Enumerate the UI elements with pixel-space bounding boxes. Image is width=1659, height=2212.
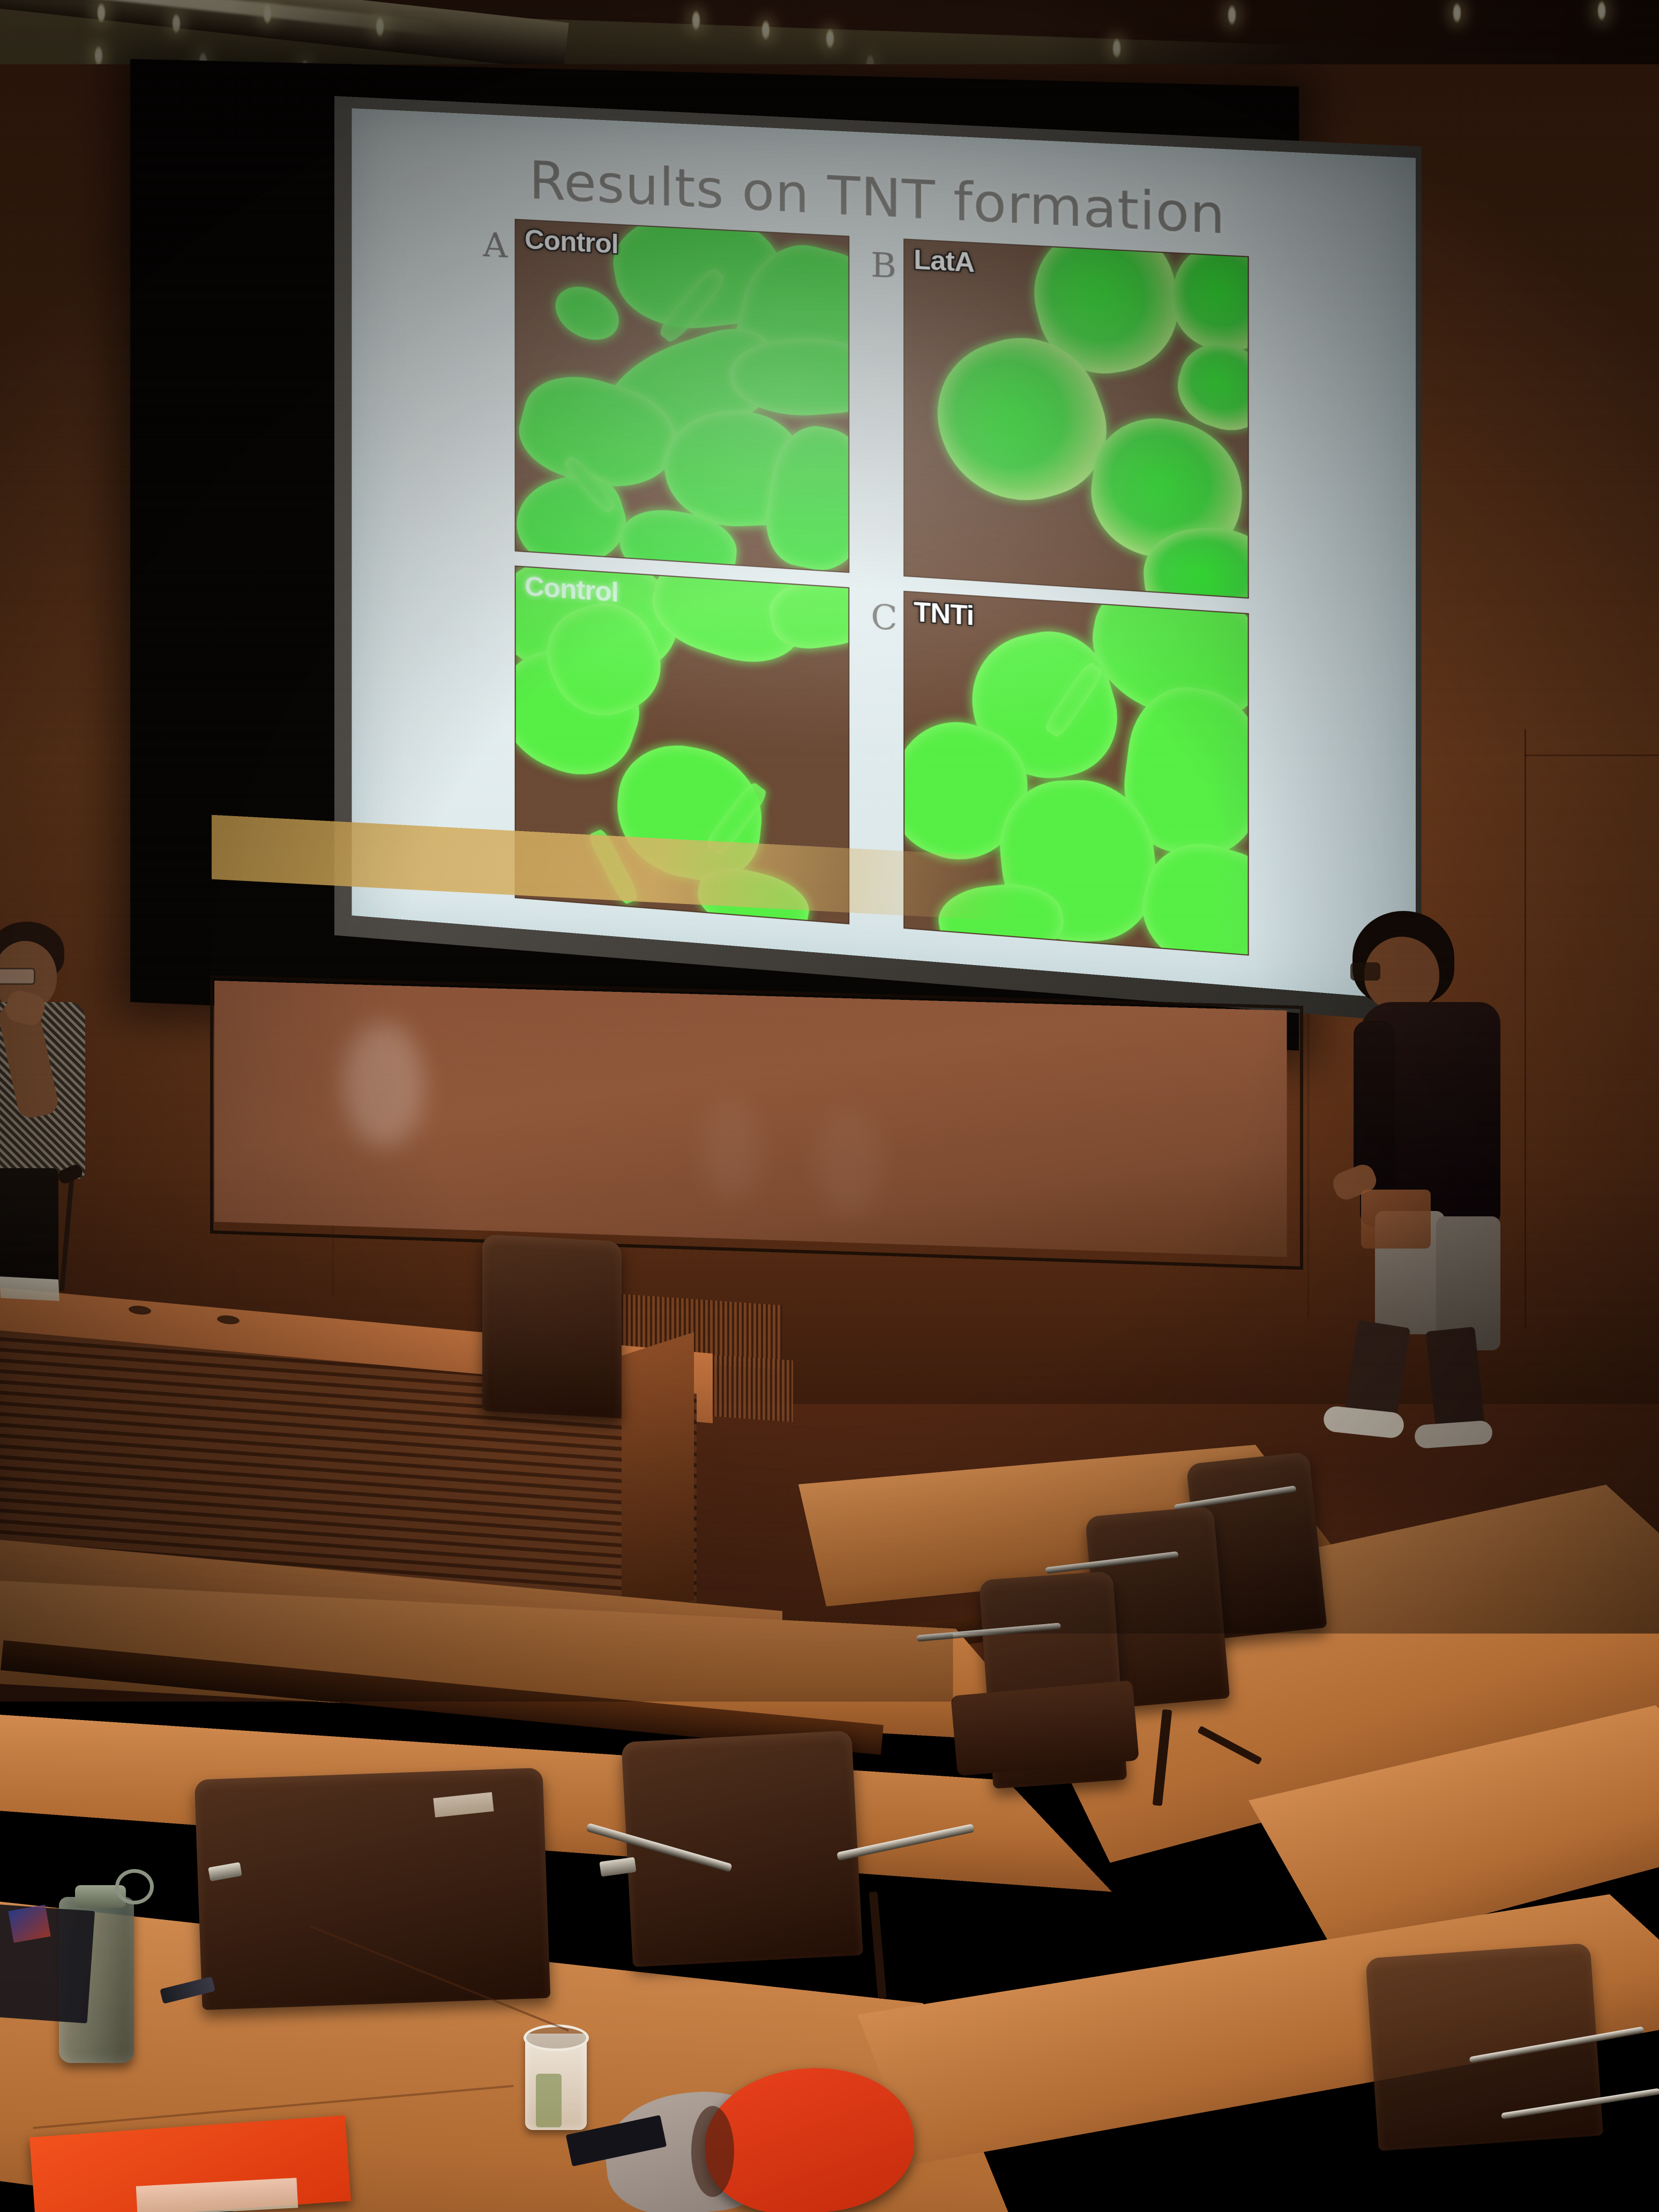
panel-label-control-lower: Control <box>525 571 618 608</box>
chair-seat <box>951 1680 1139 1776</box>
bag-logo <box>8 1904 50 1942</box>
lectern-paper <box>0 1276 59 1301</box>
figure-panel-a: A Control <box>515 219 858 571</box>
audience-glasses-icon <box>0 968 35 985</box>
chair-post <box>869 1892 886 1999</box>
figure-row: A Control <box>482 217 1269 597</box>
below-screen-panel <box>214 981 1287 1257</box>
wall-seam <box>1525 729 1526 1329</box>
panel-label-a: Control <box>525 223 618 260</box>
micrograph-a: Control <box>515 219 850 573</box>
bottle-loop-icon <box>115 1869 154 1904</box>
cup-contents <box>536 2074 562 2127</box>
panel-label-b: LatA <box>914 243 974 278</box>
presenter-held-item <box>1361 1190 1431 1249</box>
presenter-leg <box>1425 1327 1485 1433</box>
cup-rim <box>524 2024 589 2051</box>
chair-back <box>482 1234 622 1418</box>
audience-member-left <box>0 922 96 1318</box>
lectern-side <box>622 1332 694 1624</box>
panel-letter-a: A <box>483 225 507 265</box>
panel-letter-b: B <box>871 245 896 286</box>
wall-panel-line <box>1525 754 1659 756</box>
panel-letter-c: C <box>871 596 898 638</box>
presenter <box>1329 911 1511 1447</box>
micrograph-b: LatA <box>903 238 1249 599</box>
panel-label-c: TNTi <box>914 596 974 632</box>
presenter-shoe <box>1414 1420 1493 1449</box>
desk-row-left-lower <box>0 1715 1112 1892</box>
cap-brim <box>691 2106 734 2197</box>
figure-panel-b: B LatA <box>903 238 1258 597</box>
presenter-glasses-icon <box>1350 962 1380 981</box>
lecture-hall-photo: Results on TNT formation A Control <box>0 0 1659 2212</box>
